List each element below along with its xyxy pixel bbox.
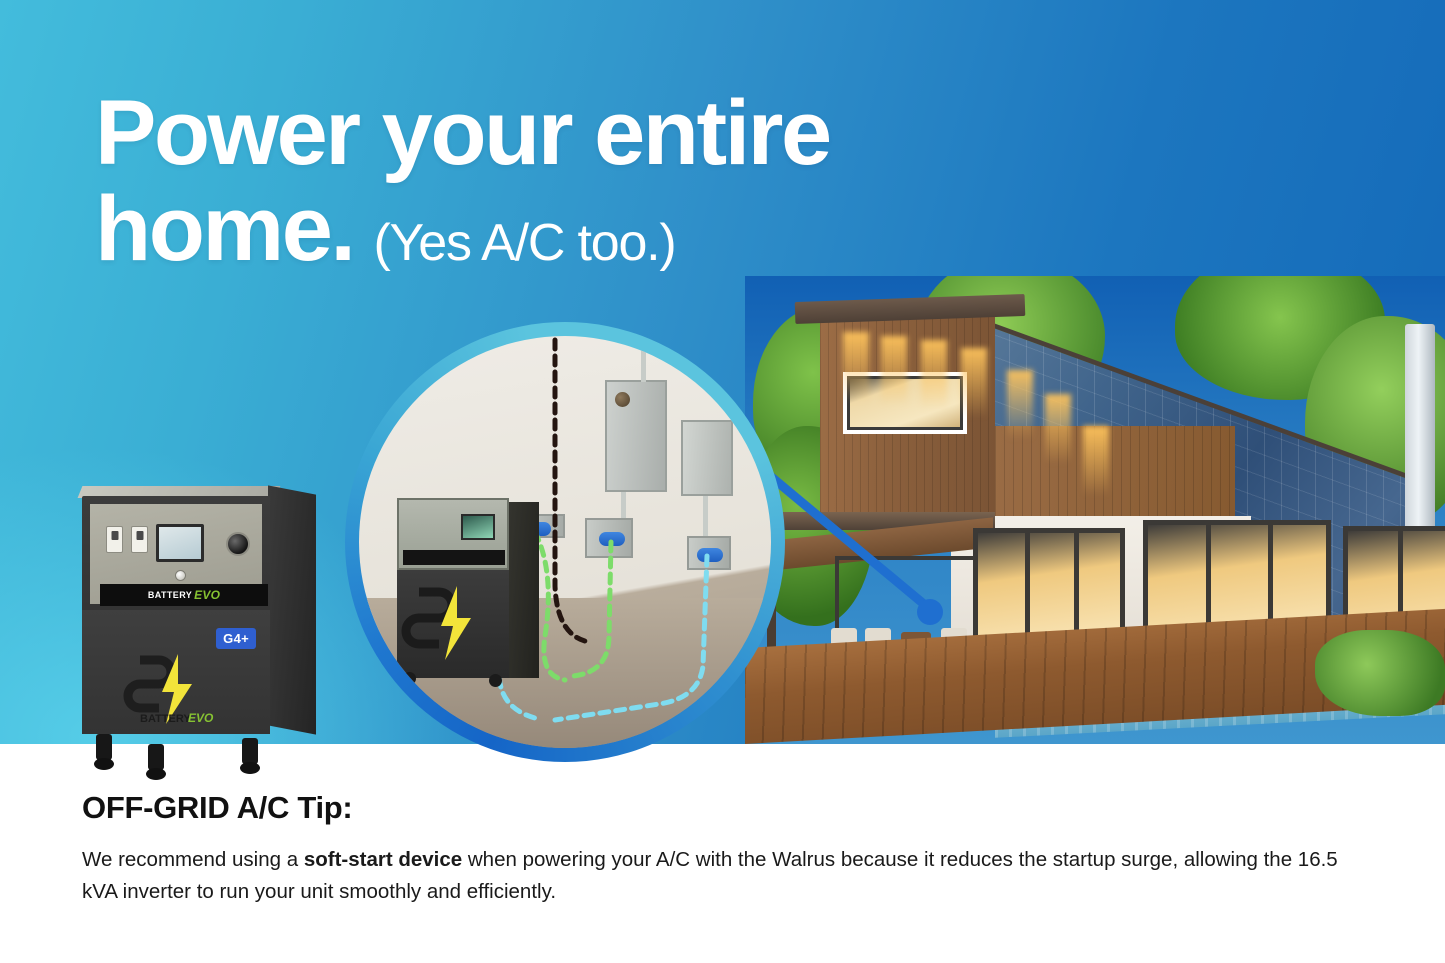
unit-wheel xyxy=(403,672,416,685)
downlight xyxy=(881,336,907,406)
unit-side-panel xyxy=(507,502,539,678)
ac-outlet xyxy=(131,526,148,553)
unit-logo-bar xyxy=(403,550,505,565)
svg-text:BATTERY: BATTERY xyxy=(140,713,191,725)
bolt-logo-icon xyxy=(397,570,509,678)
product-wheel xyxy=(242,738,258,764)
downlight xyxy=(921,340,947,410)
product-front-panel: BATTERY EVO xyxy=(90,504,262,604)
product-battery-body: G4+ BATTERY EVO xyxy=(82,610,270,734)
unit-battery-body xyxy=(397,570,509,678)
tip-text-bold: soft-start device xyxy=(304,848,462,871)
inset-battery-unit xyxy=(397,498,532,678)
tip-heading: OFF-GRID A/C Tip: xyxy=(82,790,1372,826)
tip-paragraph: We recommend using a soft-start device w… xyxy=(82,844,1372,908)
headline-subtext: (Yes A/C too.) xyxy=(373,213,675,273)
brand-name-primary: BATTERY xyxy=(148,590,192,600)
bolt-logo-icon: BATTERY EVO xyxy=(122,650,232,726)
hero-headline: Power your entire home. (Yes A/C too.) xyxy=(95,88,935,274)
product-logo-bar: BATTERY EVO xyxy=(100,584,268,606)
callout-photo xyxy=(359,336,771,748)
power-button[interactable] xyxy=(175,570,186,581)
brand-name-secondary: EVO xyxy=(194,588,220,602)
unit-control-panel xyxy=(397,498,509,570)
downlight xyxy=(1083,426,1109,496)
walrus-battery-product: BATTERY EVO G4+ BATTERY EVO xyxy=(70,486,320,786)
tip-text-part-1: We recommend using a xyxy=(82,848,304,871)
downlight xyxy=(961,348,987,418)
headline-line-2: home. xyxy=(95,184,353,274)
product-caster xyxy=(146,768,166,780)
headline-line-1: Power your entire xyxy=(95,88,935,178)
product-caster xyxy=(94,758,114,770)
downlight xyxy=(1045,394,1071,464)
product-wheel xyxy=(148,744,164,770)
product-wheel xyxy=(96,734,112,760)
generation-badge: G4+ xyxy=(216,628,256,649)
unit-wheel xyxy=(489,674,502,687)
dc-port xyxy=(226,532,250,556)
installation-photo-callout xyxy=(345,322,785,762)
product-side-panel xyxy=(268,485,316,734)
promo-banner: BATTERY EVO G4+ BATTERY EVO Power your e… xyxy=(0,0,1445,963)
product-caster xyxy=(240,762,260,774)
ac-outlet xyxy=(106,526,123,553)
chimney xyxy=(1405,324,1435,544)
garden-hedge xyxy=(1315,630,1445,716)
product-touchscreen xyxy=(156,524,204,562)
product-control-head: BATTERY EVO xyxy=(82,496,270,612)
off-grid-tip-section: OFF-GRID A/C Tip: We recommend using a s… xyxy=(82,790,1372,908)
unit-display xyxy=(461,514,495,540)
svg-text:EVO: EVO xyxy=(188,711,214,725)
downlight xyxy=(843,332,869,402)
downlight xyxy=(1007,370,1033,440)
